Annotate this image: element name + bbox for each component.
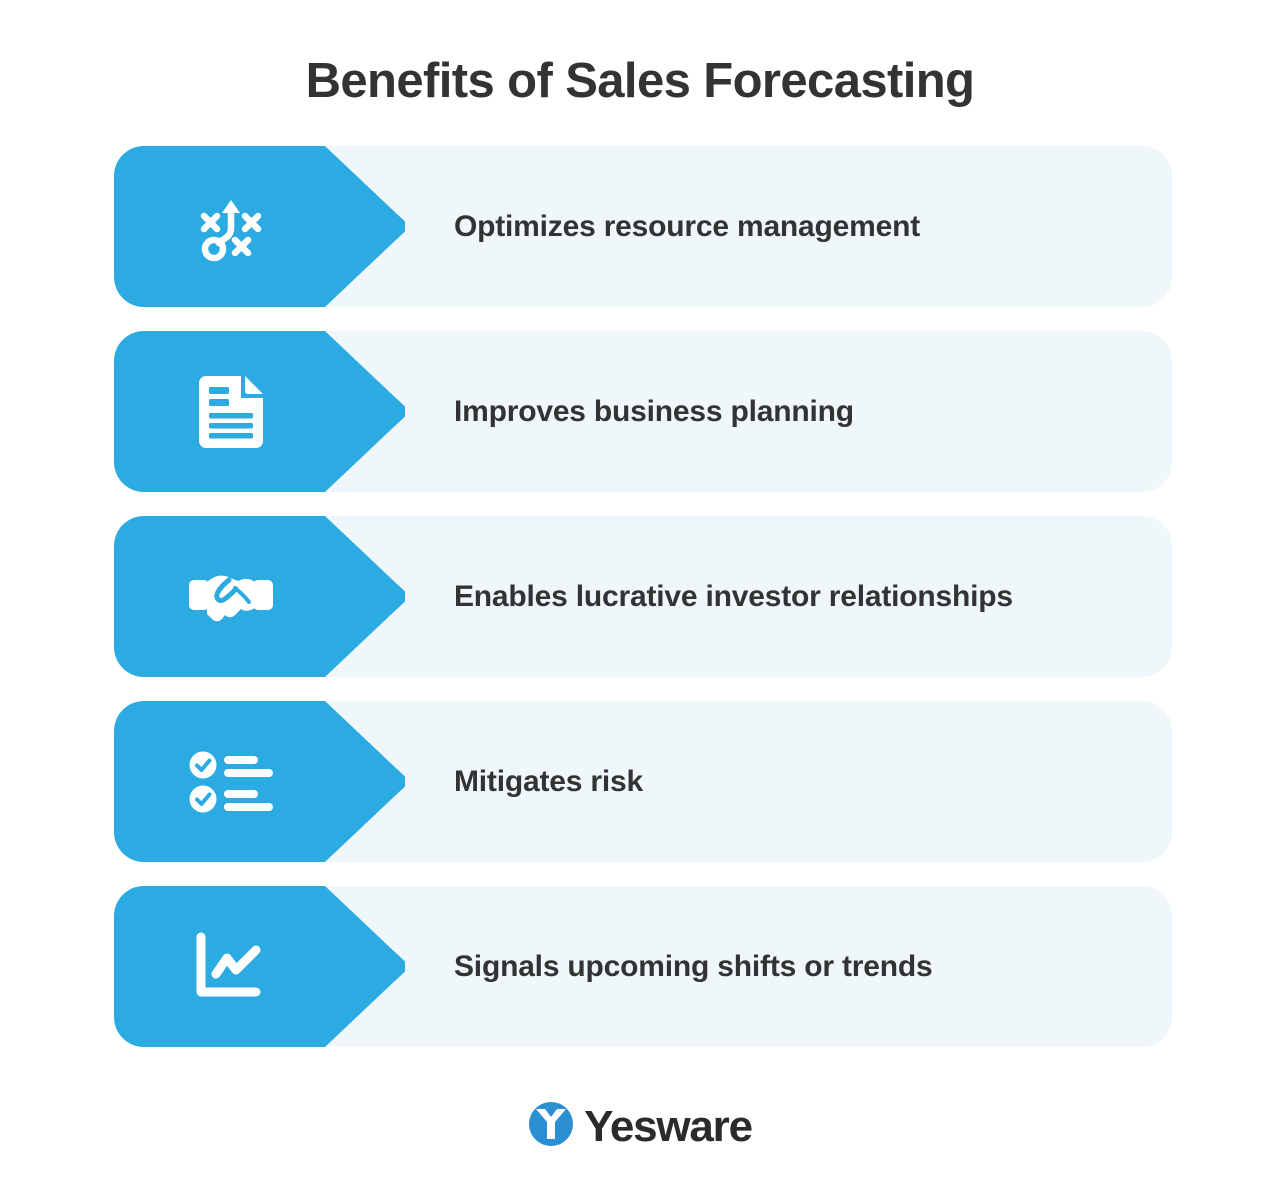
- list-item-label: Signals upcoming shifts or trends: [454, 950, 932, 984]
- document-icon: [188, 369, 274, 455]
- list-item-label: Enables lucrative investor relationships: [454, 580, 1013, 614]
- page-title: Benefits of Sales Forecasting: [0, 52, 1280, 111]
- yesware-logo-mark: [528, 1101, 574, 1152]
- benefits-list: Optimizes resource management Improves b…: [114, 146, 1172, 1071]
- line-chart-icon: [188, 924, 274, 1010]
- brand-name: Yesware: [584, 1105, 752, 1149]
- list-item: Optimizes resource management: [114, 146, 1172, 307]
- list-item-label: Optimizes resource management: [454, 210, 920, 244]
- handshake-icon: [188, 554, 274, 640]
- list-item-label: Mitigates risk: [454, 765, 643, 799]
- checklist-icon: [188, 739, 274, 825]
- list-item-label: Improves business planning: [454, 395, 854, 429]
- strategy-playbook-icon: [188, 184, 274, 270]
- list-item: Mitigates risk: [114, 701, 1172, 862]
- list-item: Improves business planning: [114, 331, 1172, 492]
- list-item: Signals upcoming shifts or trends: [114, 886, 1172, 1047]
- list-item: Enables lucrative investor relationships: [114, 516, 1172, 677]
- infographic-canvas: Benefits of Sales Forecasting: [0, 0, 1280, 1198]
- footer-brand: Yesware: [0, 1101, 1280, 1152]
